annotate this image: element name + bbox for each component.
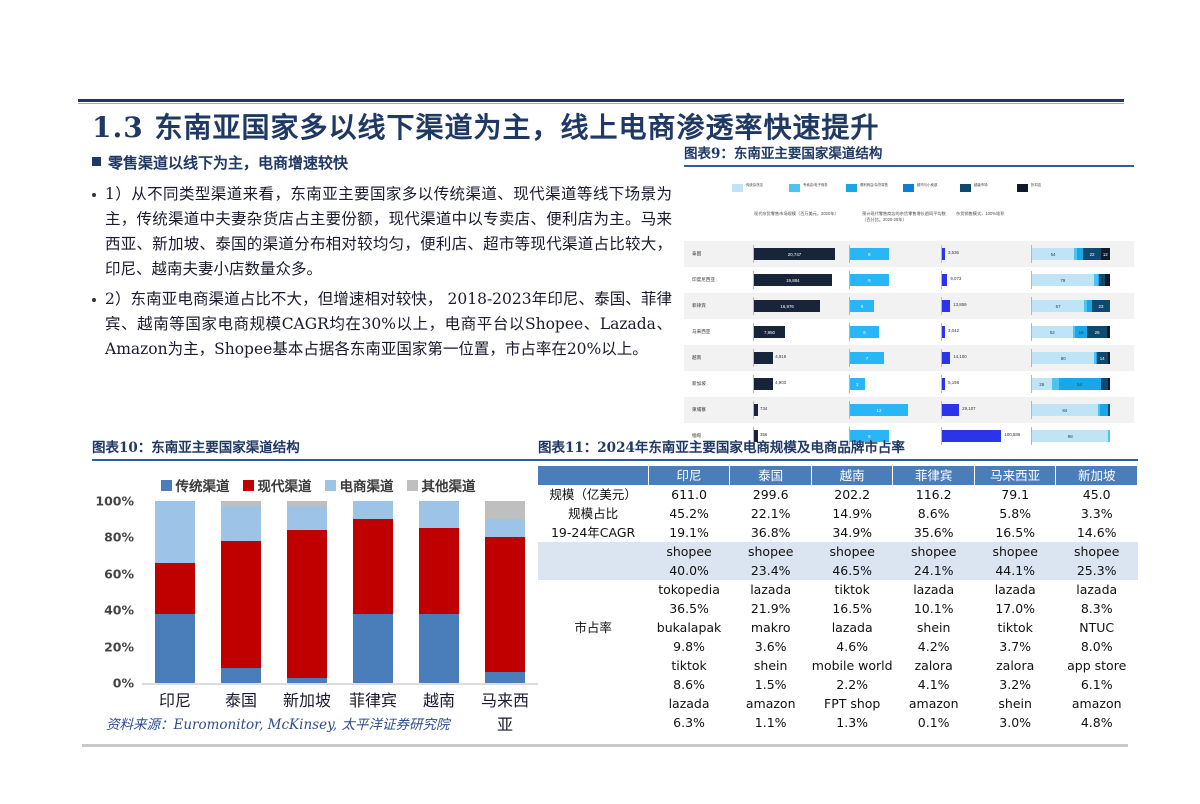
figure-9-axis-line (849, 245, 850, 263)
paragraph-1-text: 1）从不同类型渠道来看，东南亚主要国家多以传统渠道、现代渠道等线下场景为主，传统… (105, 182, 672, 282)
figure-10: 图表10：东南亚主要国家渠道结构 传统渠道现代渠道电商渠道其他渠道 0%20%4… (92, 436, 544, 736)
row-label (538, 561, 648, 580)
legend-swatch-icon (1017, 184, 1028, 192)
figure-9-size-cell: 16,976 (746, 293, 846, 319)
row-label: 市占率 (538, 618, 648, 637)
table-cell: 6.1% (1056, 675, 1138, 694)
figure-9-cagr-bar: 8 (850, 274, 889, 286)
chart-plot-area: 0%20%40%60%80%100% 印尼泰国新加坡菲律宾越南马来西亚 (92, 501, 544, 683)
table-row: 8.6%1.5%2.2%4.1%3.2%6.1% (538, 675, 1138, 694)
table-cell: 3.2% (974, 675, 1055, 694)
figure-9-axis-line (1031, 375, 1032, 393)
figure-9-stack-bar: 6723 (1032, 300, 1110, 312)
figure-9-stack-segment: 54 (1059, 378, 1101, 390)
bar-segment-现代渠道 (353, 519, 393, 614)
table-header: 印尼泰国越南菲律宾马来西亚新加坡 (538, 466, 1138, 485)
bar-segment-传统渠道 (353, 614, 393, 683)
table-cell: shein (893, 618, 975, 637)
table-cell: zalora (893, 656, 975, 675)
table-cell: lazada (811, 618, 892, 637)
figure-9-stack-cell: 79 (1030, 267, 1126, 293)
row-label (538, 713, 648, 732)
figure-9-row: 新加坡4,90335,1982554 (684, 371, 1134, 397)
table-cell: 79.1 (974, 485, 1055, 504)
figure-9-stack-segment: 25 (1087, 326, 1107, 338)
figure-9-stack-segment (1108, 352, 1110, 364)
column-header-菲律宾: 菲律宾 (893, 466, 975, 485)
table-cell: 1.5% (730, 675, 812, 694)
bar-segment-电商渠道 (485, 519, 525, 537)
figure-9-stack-segment: 67 (1032, 300, 1084, 312)
figure-9-stack-cell: 521625 (1030, 319, 1126, 345)
table-cell: 22.1% (730, 504, 812, 523)
figure-9-stack-segment: 25 (1032, 378, 1052, 390)
figure-9-axis-line (753, 375, 754, 393)
table-cell: shein (974, 694, 1055, 713)
figure-9-legend-item: 传统杂货店 (732, 183, 776, 192)
figure-9-stack-segment (1108, 378, 1110, 390)
figure-9-size-cell: 19,884 (746, 267, 846, 293)
bar-segment-传统渠道 (485, 672, 525, 683)
figure-9-value3-bar (942, 274, 947, 286)
bar-越南 (419, 501, 459, 683)
bar-segment-电商渠道 (155, 501, 195, 563)
table-cell: 35.6% (893, 523, 975, 542)
table-cell: tiktok (974, 618, 1055, 637)
figure-9-column-header: 预计现代零售商店的杂货零售增长趋同平均数（百分比，2020-25年） (862, 211, 948, 223)
figure-9-rule (684, 165, 1134, 167)
table-row: 19-24年CAGR19.1%36.8%34.9%35.6%16.5%14.6% (538, 523, 1138, 542)
figure-9-stack-segment: 84 (1032, 404, 1098, 416)
table-cell: mobile world (811, 656, 892, 675)
bar-segment-电商渠道 (287, 506, 327, 530)
figure-9-legend-item: 便利商店/杂货零售 (846, 183, 890, 192)
table-cell: amazon (893, 694, 975, 713)
figure-9-cagr-bar: 7 (850, 352, 884, 364)
figure-9-axis-line (849, 401, 850, 419)
table-cell: 36.5% (648, 599, 730, 618)
figure-9-stack-segment: 22 (1083, 248, 1100, 260)
table-cell: zalora (974, 656, 1055, 675)
bullet-dot-icon (92, 298, 96, 302)
table-cell: 17.0% (974, 599, 1055, 618)
row-label (538, 542, 648, 561)
figure-11-rule (538, 459, 1138, 461)
table-cell: 6.3% (648, 713, 730, 732)
figure-9-axis-line (849, 297, 850, 315)
square-bullet-icon (92, 157, 101, 166)
table-cell: tokopedia (648, 580, 730, 599)
bar-segment-传统渠道 (155, 614, 195, 683)
figure-9-row-label: 马来西亚 (684, 329, 746, 335)
table-cell: 4.8% (1056, 713, 1138, 732)
table-row: 规模占比45.2%22.1%14.9%8.6%5.8%3.3% (538, 504, 1138, 523)
table-cell: tiktok (811, 580, 892, 599)
figure-9-size-bar: 20,747 (754, 248, 835, 260)
table-cell: 16.5% (811, 599, 892, 618)
paragraph-2-text: 2）东南亚电商渠道占比不大，但增速相对较快， 2018-2023年印尼、泰国、菲… (105, 287, 672, 362)
figure-9-stack-segment: 14 (1097, 352, 1108, 364)
figure-9-axis-line (753, 401, 754, 419)
table-cell: 40.0% (648, 561, 730, 580)
figure-9-size-bar: 16,976 (754, 300, 820, 312)
figure-9-row: 菲律宾16,976513,8596723 (684, 293, 1134, 319)
figure-9-stack-segment (1052, 378, 1059, 390)
legend-swatch-icon (407, 480, 418, 491)
figure-9-cagr-cell: 8 (846, 267, 938, 293)
figure-9-axis-line (849, 323, 850, 341)
figure-9-axis-line (753, 245, 754, 263)
figure-9-value3-bar (942, 326, 945, 338)
bar-segment-其他渠道 (485, 501, 525, 519)
legend-label: 电商渠道 (340, 475, 394, 495)
table-cell: 3.7% (974, 637, 1055, 656)
figure-9-stack-cell: 542212 (1030, 241, 1126, 267)
legend-item-3: 其他渠道 (407, 475, 476, 495)
table-cell: NTUC (1056, 618, 1138, 637)
figure-9-value3-bar (942, 300, 950, 312)
bar-泰国 (221, 501, 261, 683)
y-axis: 0%20%40%60%80%100% (92, 501, 140, 683)
title-rule-bottom (78, 103, 1124, 104)
figure-9-axis-line (849, 349, 850, 367)
table-cell: 44.1% (974, 561, 1055, 580)
figure-9-row-label: 印度尼西亚 (684, 277, 746, 283)
table-cell: shopee (811, 542, 892, 561)
table-cell: 202.2 (811, 485, 892, 504)
table-cell: shopee (1056, 542, 1138, 561)
table-cell: 9.8% (648, 637, 730, 656)
column-header-马来西亚: 马来西亚 (974, 466, 1055, 485)
table-cell: 8.3% (1056, 599, 1138, 618)
table-cell: 4.6% (811, 637, 892, 656)
legend-swatch-icon (903, 184, 914, 192)
table-cell: app store (1056, 656, 1138, 675)
figure-9-value3-cell: 3,042 (938, 319, 1030, 345)
table-row: shopeeshopeeshopeeshopeeshopeeshopee (538, 542, 1138, 561)
table-cell: shopee (730, 542, 812, 561)
figure-9-value3-label: 13,859 (953, 302, 966, 307)
figure-9: 图表9：东南亚主要国家渠道结构 传统杂货店专卖店/电子商务便利商店/杂货零售超市… (684, 142, 1134, 422)
figure-9-axis-line (1031, 349, 1032, 367)
bars-container (142, 501, 538, 685)
figure-9-cagr-bar: 3 (850, 378, 865, 390)
row-label (538, 675, 648, 694)
legend-item-1: 现代渠道 (243, 475, 312, 495)
row-label (538, 656, 648, 675)
column-header-新加坡: 新加坡 (1056, 466, 1138, 485)
section-heading-label: 零售渠道以线下为主，电商增速较快 (108, 152, 348, 173)
table-cell: 45.2% (648, 504, 730, 523)
table-body: 规模（亿美元）611.0299.6202.2116.279.145.0规模占比4… (538, 485, 1138, 732)
table-cell: 5.8% (974, 504, 1055, 523)
figure-9-axis-line (753, 323, 754, 341)
figure-9-cagr-bar: 6 (850, 326, 879, 338)
figure-10-source: 资料来源：Euromonitor, McKinsey, 太平洋证券研究院 (106, 713, 450, 733)
figure-9-value3-label: 9,073 (950, 276, 961, 281)
legend-label: 超市与小卖部 (917, 183, 947, 188)
figure-9-value3-bar (942, 404, 959, 416)
table-cell: 34.9% (811, 523, 892, 542)
figure-9-axis-line (753, 349, 754, 367)
figure-9-title: 图表9：东南亚主要国家渠道结构 (684, 142, 1134, 162)
table-cell: 14.6% (1056, 523, 1138, 542)
table-cell: lazada (1056, 580, 1138, 599)
row-label (538, 599, 648, 618)
figure-9-stack-cell: 6723 (1030, 293, 1126, 319)
figure-9-axis-line (941, 297, 942, 315)
table-cell: amazon (1056, 694, 1138, 713)
bar-segment-现代渠道 (155, 563, 195, 614)
figure-9-value3-cell: 13,859 (938, 293, 1030, 319)
figure-9-column-header: 杂货销售模式，100%堆积 (956, 211, 1042, 217)
y-axis-tick: 0% (113, 676, 134, 691)
y-axis-tick: 20% (104, 639, 134, 654)
table-cell: 4.2% (893, 637, 975, 656)
bar-菲律宾 (353, 501, 393, 683)
table-cell: shopee (974, 542, 1055, 561)
figure-9-axis-line (941, 375, 942, 393)
y-axis-tick: 100% (95, 494, 134, 509)
figure-9-value3-label: 29,107 (962, 406, 975, 411)
figure-9-legend-item: 超级市场 (960, 183, 1004, 192)
table-cell: 8.6% (648, 675, 730, 694)
y-axis-tick: 40% (104, 603, 134, 618)
figure-9-value3-label: 3,042 (948, 328, 959, 333)
figure-9-axis-line (1031, 271, 1032, 289)
bar-新加坡 (287, 501, 327, 683)
figure-9-stack-segment: 23 (1092, 300, 1110, 312)
table-cell: 36.8% (730, 523, 812, 542)
figure-9-size-cell: 4,916 (746, 345, 846, 371)
figure-9-axis-line (1031, 245, 1032, 263)
bar-segment-电商渠道 (353, 501, 393, 519)
figure-9-axis-line (1031, 323, 1032, 341)
figure-9-row: 越南4,916714,1008014 (684, 345, 1134, 371)
figure-9-size-bar (754, 378, 773, 390)
legend-label: 折扣店 (1031, 183, 1061, 188)
figure-9-axis-line (941, 401, 942, 419)
figure-9-stack-bar: 8014 (1032, 352, 1110, 364)
table-cell: 2.2% (811, 675, 892, 694)
left-text-column: 零售渠道以线下为主，电商增速较快 1）从不同类型渠道来看，东南亚主要国家多以传统… (92, 152, 672, 367)
figure-9-value3-label: 5,198 (948, 380, 959, 385)
figure-9-value3-cell: 9,073 (938, 267, 1030, 293)
page-title: 1.3 东南亚国家多以线下渠道为主，线上电商渗透率快速提升 (92, 106, 1132, 140)
figure-11-title: 图表11：2024年东南亚主要国家电商规模及电商品牌市占率 (538, 436, 1138, 456)
legend-label: 其他渠道 (422, 475, 476, 495)
table-row: 40.0%23.4%46.5%24.1%44.1%25.3% (538, 561, 1138, 580)
table-cell: bukalapak (648, 618, 730, 637)
legend-swatch-icon (732, 184, 743, 192)
figure-9-row-label: 柬埔寨 (684, 407, 746, 413)
table-row: 市占率bukalapakmakrolazadasheintiktokNTUC (538, 618, 1138, 637)
table-row: lazadaamazonFPT shopamazonsheinamazon (538, 694, 1138, 713)
table-header-row: 印尼泰国越南菲律宾马来西亚新加坡 (538, 466, 1138, 485)
table-cell: shein (730, 656, 812, 675)
figure-9-legend-item: 超市与小卖部 (903, 183, 947, 192)
figure-9-row: 印度尼西亚19,88489,07379 (684, 267, 1134, 293)
figure-9-size-bar: 19,884 (754, 274, 832, 286)
table-cell: lazada (730, 580, 812, 599)
table-cell: 611.0 (648, 485, 730, 504)
legend-label: 现代渠道 (258, 475, 312, 495)
figure-9-size-bar (754, 404, 758, 416)
table-cell: 3.3% (1056, 504, 1138, 523)
figure-9-stack-cell: 84 (1030, 397, 1126, 423)
figure-9-axis-line (753, 271, 754, 289)
x-axis-label: 马来西亚 (475, 687, 535, 735)
legend-item-0: 传统渠道 (161, 475, 230, 495)
bar-segment-电商渠道 (221, 506, 261, 541)
table-cell: FPT shop (811, 694, 892, 713)
figure-9-stack-bar: 84 (1032, 404, 1110, 416)
table-row: 9.8%3.6%4.6%4.2%3.7%8.0% (538, 637, 1138, 656)
figure-9-cagr-cell: 5 (846, 293, 938, 319)
row-label: 19-24年CAGR (538, 523, 648, 542)
table-cell: shopee (893, 542, 975, 561)
figure-9-row-label: 泰国 (684, 251, 746, 257)
column-header-泰国: 泰国 (730, 466, 812, 485)
figure-9-cagr-bar: 12 (850, 404, 908, 416)
table-cell: 45.0 (1056, 485, 1138, 504)
bar-segment-电商渠道 (419, 501, 459, 528)
legend-label: 超级市场 (974, 183, 1004, 188)
figure-9-axis-line (1031, 401, 1032, 419)
table-cell: lazada (974, 580, 1055, 599)
figure-9-cagr-bar: 5 (850, 300, 874, 312)
legend-swatch-icon (960, 184, 971, 192)
table-cell: 0.1% (893, 713, 975, 732)
figure-9-cagr-cell: 12 (846, 397, 938, 423)
row-label (538, 637, 648, 656)
figure-9-row: 马来西亚7,95063,042521625 (684, 319, 1134, 345)
section-heading: 零售渠道以线下为主，电商增速较快 (92, 152, 672, 173)
legend-swatch-icon (846, 184, 857, 192)
table-cell: lazada (648, 694, 730, 713)
figure-9-row: 柬埔寨7341229,10784 (684, 397, 1134, 423)
figure-9-value3-cell: 5,198 (938, 371, 1030, 397)
table-cell: 16.5% (974, 523, 1055, 542)
legend-label: 传统渠道 (176, 475, 230, 495)
figure-9-stack-cell: 2554 (1030, 371, 1126, 397)
table-cell: 3.0% (974, 713, 1055, 732)
figure-9-cagr-cell: 3 (846, 371, 938, 397)
table-cell: 3.6% (730, 637, 812, 656)
figure-9-row-label: 越南 (684, 355, 746, 361)
table-cell: tiktok (648, 656, 730, 675)
paragraph-1: 1）从不同类型渠道来看，东南亚主要国家多以传统渠道、现代渠道等线下场景为主，传统… (92, 182, 672, 282)
legend-swatch-icon (789, 184, 800, 192)
legend-item-2: 电商渠道 (325, 475, 394, 495)
table-corner-cell (538, 466, 648, 485)
column-header-印尼: 印尼 (648, 466, 730, 485)
row-label: 规模占比 (538, 504, 648, 523)
table-cell: 23.4% (730, 561, 812, 580)
table-cell: 14.9% (811, 504, 892, 523)
figure-9-stack-segment: 54 (1032, 248, 1074, 260)
table-cell: 10.1% (893, 599, 975, 618)
figure-9-legend-item: 专卖店/电子商务 (789, 183, 833, 192)
figure-9-row-label: 菲律宾 (684, 303, 746, 309)
figure-9-column-header: 现代杂货零售市场规模（百万美元，2020年） (754, 211, 850, 217)
row-label (538, 580, 648, 599)
legend-swatch-icon (325, 480, 336, 491)
figure-9-axis-line (941, 349, 942, 367)
figure-9-value3-label: 3,536 (948, 250, 959, 255)
bar-segment-传统渠道 (287, 678, 327, 683)
bar-segment-传统渠道 (221, 668, 261, 683)
figure-9-stack-bar: 79 (1032, 274, 1110, 286)
table-cell: lazada (893, 580, 975, 599)
figure-9-stack-segment: 16 (1075, 326, 1087, 338)
paragraph-2: 2）东南亚电商渠道占比不大，但增速相对较快， 2018-2023年印尼、泰国、菲… (92, 287, 672, 362)
table-cell: 8.6% (893, 504, 975, 523)
row-label (538, 694, 648, 713)
figure-9-stack-bar: 2554 (1032, 378, 1110, 390)
table-cell: amazon (730, 694, 812, 713)
table-cell: 299.6 (730, 485, 812, 504)
table-cell: 116.2 (893, 485, 975, 504)
figure-9-legend: 传统杂货店专卖店/电子商务便利商店/杂货零售超市与小卖部超级市场折扣店 (732, 183, 1132, 201)
figure-9-value3-bar (942, 248, 945, 260)
figure-9-chart: 传统杂货店专卖店/电子商务便利商店/杂货零售超市与小卖部超级市场折扣店现代杂货零… (684, 171, 1134, 424)
bullet-dot-icon (92, 193, 96, 197)
table-cell: 46.5% (811, 561, 892, 580)
figure-9-stack-segment (1105, 274, 1110, 286)
chart-legend: 传统渠道现代渠道电商渠道其他渠道 (92, 475, 544, 495)
figure-9-axis-line (941, 271, 942, 289)
figure-9-size-bar (754, 352, 773, 364)
column-header-越南: 越南 (811, 466, 892, 485)
figure-9-size-value: 734 (760, 406, 767, 411)
bar-segment-现代渠道 (485, 537, 525, 672)
figure-9-value3-bar (942, 352, 950, 364)
table-row: tiktoksheinmobile worldzalorazaloraapp s… (538, 656, 1138, 675)
bar-印尼 (155, 501, 195, 683)
table-row: 规模（亿美元）611.0299.6202.2116.279.145.0 (538, 485, 1138, 504)
figure-9-size-cell: 20,747 (746, 241, 846, 267)
bar-segment-传统渠道 (419, 614, 459, 683)
legend-label: 专卖店/电子商务 (803, 183, 833, 188)
footer-rule (82, 744, 1128, 747)
table-cell: 1.1% (730, 713, 812, 732)
figure-9-axis-line (849, 271, 850, 289)
figure-11: 图表11：2024年东南亚主要国家电商规模及电商品牌市占率 印尼泰国越南菲律宾马… (538, 436, 1138, 732)
y-axis-tick: 60% (104, 566, 134, 581)
figure-9-stack-segment (1100, 404, 1108, 416)
figure-9-value3-cell: 14,100 (938, 345, 1030, 371)
figure-9-axis-line (849, 375, 850, 393)
bar-segment-现代渠道 (287, 530, 327, 677)
figure-10-rule (92, 459, 544, 461)
figure-9-axis-line (753, 297, 754, 315)
figure-9-axis-line (941, 245, 942, 263)
figure-9-cagr-bar: 8 (850, 248, 889, 260)
title-rule-top (78, 99, 1124, 102)
table-cell: 4.1% (893, 675, 975, 694)
figure-9-axis-line (941, 323, 942, 341)
figure-9-axis-line (1031, 297, 1032, 315)
figure-9-size-bar: 7,950 (754, 326, 785, 338)
figure-9-stack-bar: 542212 (1032, 248, 1110, 260)
table-cell: 19.1% (648, 523, 730, 542)
figure-9-size-cell: 7,950 (746, 319, 846, 345)
table-row: 6.3%1.1%1.3%0.1%3.0%4.8% (538, 713, 1138, 732)
figure-9-value3-bar (942, 378, 945, 390)
figure-9-value3-label: 14,100 (953, 354, 966, 359)
table-cell: makro (730, 618, 812, 637)
